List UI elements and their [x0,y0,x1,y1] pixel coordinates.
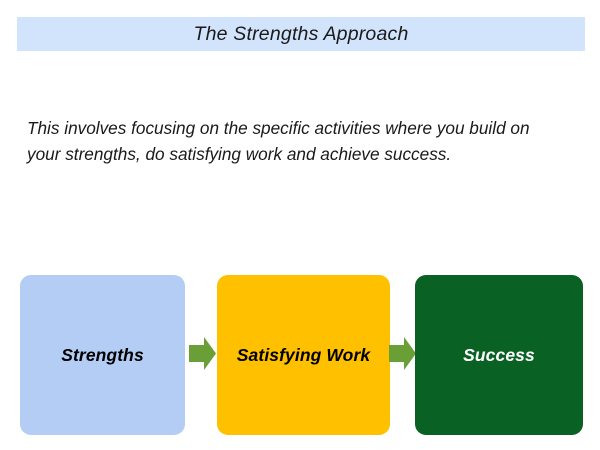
right-arrow-icon [189,337,216,370]
flow-step-success-label: Success [455,343,543,368]
flow-step-satisfying-work[interactable]: Satisfying Work [217,275,390,435]
slide-canvas: The Strengths Approach This involves foc… [0,0,600,450]
process-flow-diagram: Strengths Satisfying Work Success [0,0,600,450]
flow-step-satisfying-work-label: Satisfying Work [229,343,378,368]
body-paragraph: This involves focusing on the specific a… [27,115,542,167]
flow-step-strengths[interactable]: Strengths [20,275,185,435]
right-arrow-icon [389,337,416,370]
flow-step-strengths-label: Strengths [53,343,152,368]
title-banner: The Strengths Approach [17,17,585,51]
page-title: The Strengths Approach [193,23,408,46]
flow-step-success[interactable]: Success [415,275,583,435]
